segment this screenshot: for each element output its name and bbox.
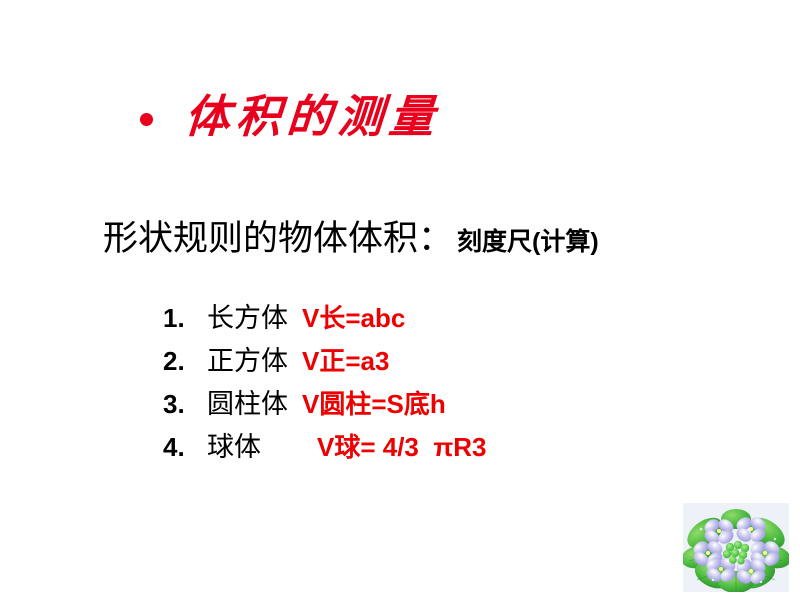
list-item-formula: V长=abc <box>302 298 405 335</box>
list-item-number: 3. <box>163 389 207 420</box>
slide-title: 体积的测量 <box>140 93 440 140</box>
slide-canvas: 体积的测量 形状规则的物体体积： 刻度尺(计算) 1. 长方体 V长=abc 2… <box>0 0 800 600</box>
list-item: 2. 正方体 V正=a3 <box>163 339 486 382</box>
list-item-formula: V球= 4/3 πR3 <box>317 427 486 464</box>
list-item: 3. 圆柱体 V圆柱=S底h <box>163 382 486 425</box>
subtitle-sub-text: 刻度尺(计算) <box>457 222 599 258</box>
flower-image <box>683 503 789 592</box>
list-item: 1. 长方体 V长=abc <box>163 296 486 339</box>
list-item-number: 1. <box>163 303 207 334</box>
hydrangea-flower-icon <box>683 503 789 592</box>
bullet-icon <box>140 113 153 126</box>
list-item: 4. 球体 V球= 4/3 πR3 <box>163 425 486 468</box>
list-item-label: 球体 <box>207 425 261 464</box>
page-title: 体积的测量 <box>183 93 441 140</box>
list-item-formula: V圆柱=S底h <box>302 384 446 421</box>
list-item-number: 2. <box>163 346 207 377</box>
formula-list: 1. 长方体 V长=abc 2. 正方体 V正=a3 3. 圆柱体 V圆柱=S底… <box>163 296 486 468</box>
list-item-formula: V正=a3 <box>302 341 389 378</box>
list-item-label: 长方体 <box>207 296 288 335</box>
list-item-label: 正方体 <box>207 339 288 378</box>
list-item-number: 4. <box>163 432 207 463</box>
subtitle: 形状规则的物体体积： 刻度尺(计算) <box>103 210 599 261</box>
list-item-label: 圆柱体 <box>207 382 288 421</box>
subtitle-main-text: 形状规则的物体体积： <box>103 210 453 261</box>
